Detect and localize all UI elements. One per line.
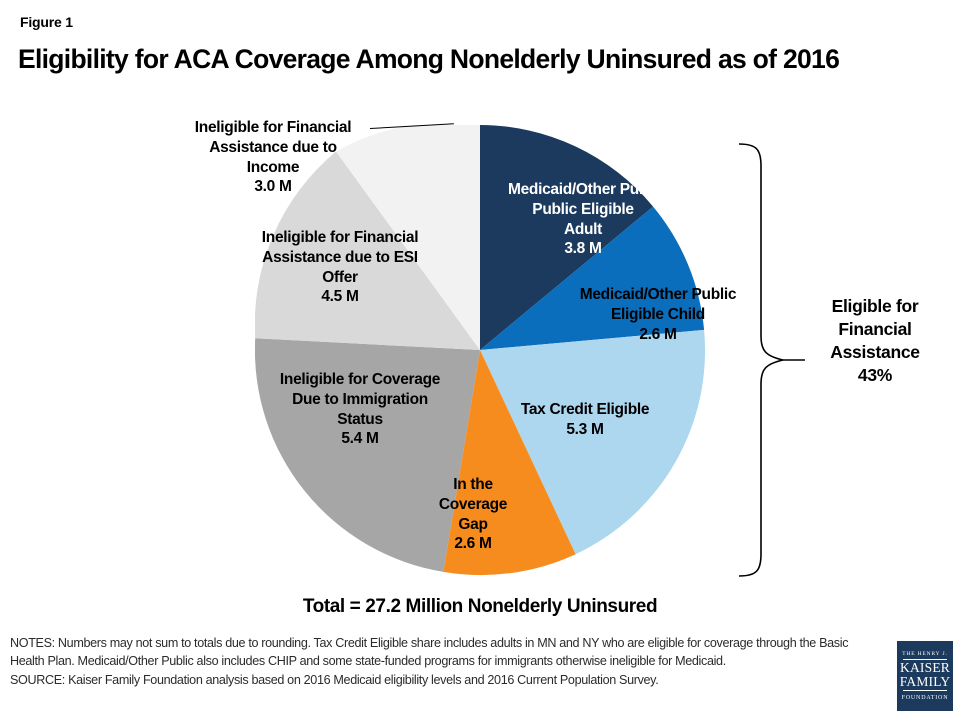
slice-label-medadult-l1: Medicaid/Other Public [508,180,658,200]
slice-label-medchild-l3: 2.6 M [558,325,758,345]
slice-label-esi-offer: Ineligible for Financial Assistance due … [240,228,440,307]
slice-label-immigration-l1: Ineligible for Coverage [260,370,460,390]
pie-chart: Ineligible for Financial Assistance due … [0,100,960,600]
footnotes: NOTES: Numbers may not sum to totals due… [10,634,882,689]
slice-label-coverage-gap: In the Coverage Gap 2.6 M [428,475,518,554]
total-label: Total = 27.2 Million Nonelderly Uninsure… [0,596,960,618]
brace-label-l1: Eligible for [805,295,945,318]
slice-label-esi-l4: 4.5 M [240,287,440,307]
eligible-brace-icon [735,140,805,580]
slice-label-income-l2: Assistance due to [178,138,368,158]
figure-label: Figure 1 [20,14,73,30]
notes-text: NOTES: Numbers may not sum to totals due… [10,634,882,671]
kff-logo: THE HENRY J. KAISER FAMILY FOUNDATION [897,641,953,711]
slice-label-immigration-l4: 5.4 M [260,429,460,449]
slice-label-income: Ineligible for Financial Assistance due … [178,118,368,197]
slice-label-medadult-l2: Public Eligible [508,200,658,220]
slice-label-gap-l4: 2.6 M [428,534,518,554]
slice-label-gap-l3: Gap [428,515,518,535]
slice-label-medicaid-child: Medicaid/Other Public Eligible Child 2.6… [558,285,758,344]
slice-label-medadult-l4: 3.8 M [508,239,658,259]
slice-label-income-l1: Ineligible for Financial [178,118,368,138]
slice-label-gap-l1: In the [428,475,518,495]
slice-label-tax-credit: Tax Credit Eligible 5.3 M [500,400,670,440]
brace-label-l4: 43% [805,364,945,387]
brace-label: Eligible for Financial Assistance 43% [805,295,945,387]
slice-label-esi-l2: Assistance due to ESI [240,248,440,268]
slice-label-esi-l1: Ineligible for Financial [240,228,440,248]
brace-label-l3: Assistance [805,341,945,364]
source-text: SOURCE: Kaiser Family Foundation analysi… [10,671,882,689]
brace-label-l2: Financial [805,318,945,341]
slice-label-medchild-l2: Eligible Child [558,305,758,325]
slice-label-esi-l3: Offer [240,268,440,288]
kff-logo-line2: KAISER [900,661,950,675]
kff-logo-line4: FOUNDATION [902,695,949,701]
slice-label-taxcredit-l2: 5.3 M [500,420,670,440]
slice-label-medchild-l1: Medicaid/Other Public [558,285,758,305]
slice-label-income-l3: Income [178,158,368,178]
slice-label-income-l4: 3.0 M [178,177,368,197]
page-title: Eligibility for ACA Coverage Among Nonel… [18,44,948,75]
slice-label-gap-l2: Coverage [428,495,518,515]
kff-logo-line1: THE HENRY J. [902,651,948,657]
slice-label-immigration: Ineligible for Coverage Due to Immigrati… [260,370,460,449]
slice-label-taxcredit-l1: Tax Credit Eligible [500,400,670,420]
kff-logo-line3: FAMILY [900,675,951,689]
slice-label-immigration-l3: Status [260,410,460,430]
kff-logo-divider-bottom [903,690,947,691]
slice-label-medadult-l3: Adult [508,220,658,240]
slice-label-medicaid-adult: Medicaid/Other Public Public Eligible Ad… [508,180,658,259]
slice-label-immigration-l2: Due to Immigration [260,390,460,410]
